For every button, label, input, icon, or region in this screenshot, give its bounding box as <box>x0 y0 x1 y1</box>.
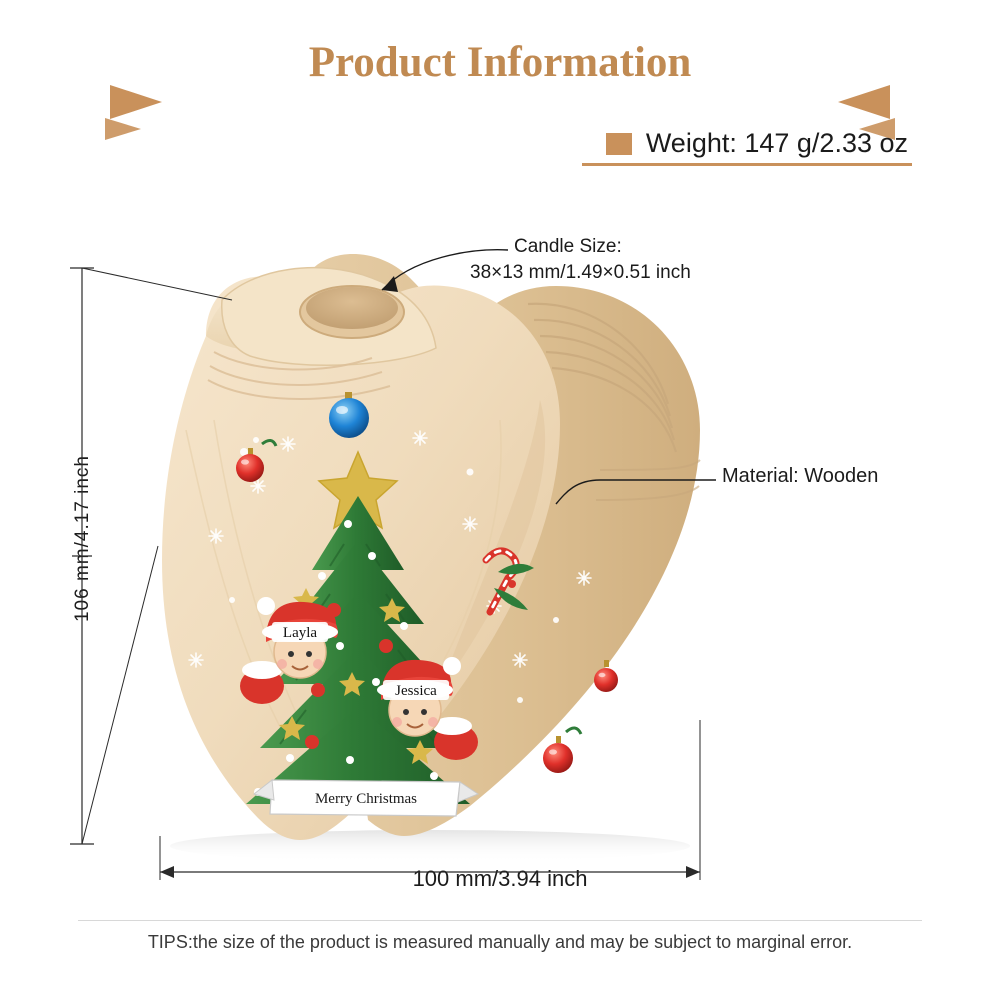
weight-underline <box>582 163 912 166</box>
candy-cane-icon <box>486 551 534 612</box>
weight-text: Weight: 147 g/2.33 oz <box>646 128 908 159</box>
square-bullet-icon <box>606 133 632 155</box>
blue-bauble <box>329 392 369 438</box>
dimension-guides <box>70 268 700 880</box>
character-jessica: Jessica <box>377 657 478 760</box>
character-name-layla: Layla <box>283 625 317 641</box>
height-dimension-label: 106 mm/4.17 inch <box>72 455 112 622</box>
page-title: Product Information <box>0 38 1000 87</box>
tips-text: TIPS:the size of the product is measured… <box>0 932 1000 953</box>
heart-block-side <box>300 254 700 836</box>
weight-row: Weight: 147 g/2.33 oz <box>606 128 908 159</box>
christmas-tree <box>246 452 470 804</box>
candle-size-callout: Candle Size: 38×13 mm/1.49×0.51 inch <box>514 234 691 286</box>
width-dimension-label: 100 mm/3.94 inch <box>0 866 1000 892</box>
product-shadow <box>170 830 690 862</box>
character-layla: Layla <box>240 597 338 704</box>
triangle-right-icon <box>110 85 162 119</box>
leader-lines <box>382 250 716 504</box>
character-name-jessica: Jessica <box>395 683 437 699</box>
triangle-right-small-icon <box>105 118 141 140</box>
red-bauble-right-upper <box>594 660 618 692</box>
heart-block-front <box>162 268 560 840</box>
red-bauble-left <box>236 440 276 482</box>
footer-divider <box>78 920 922 921</box>
candle-recess <box>300 286 404 338</box>
candle-size-label: Candle Size: <box>514 234 691 260</box>
banner-text: Merry Christmas <box>315 791 417 807</box>
material-callout: Material: Wooden <box>722 465 878 488</box>
snowflake-icon <box>189 431 619 743</box>
triangle-left-icon <box>838 85 890 119</box>
merry-christmas-banner: Merry Christmas <box>254 780 478 816</box>
candle-size-value: 38×13 mm/1.49×0.51 inch <box>470 260 691 286</box>
red-bauble-right-lower <box>543 728 581 773</box>
product-information-page: Product Information Weight: 147 g/2.33 o… <box>0 0 1000 1000</box>
